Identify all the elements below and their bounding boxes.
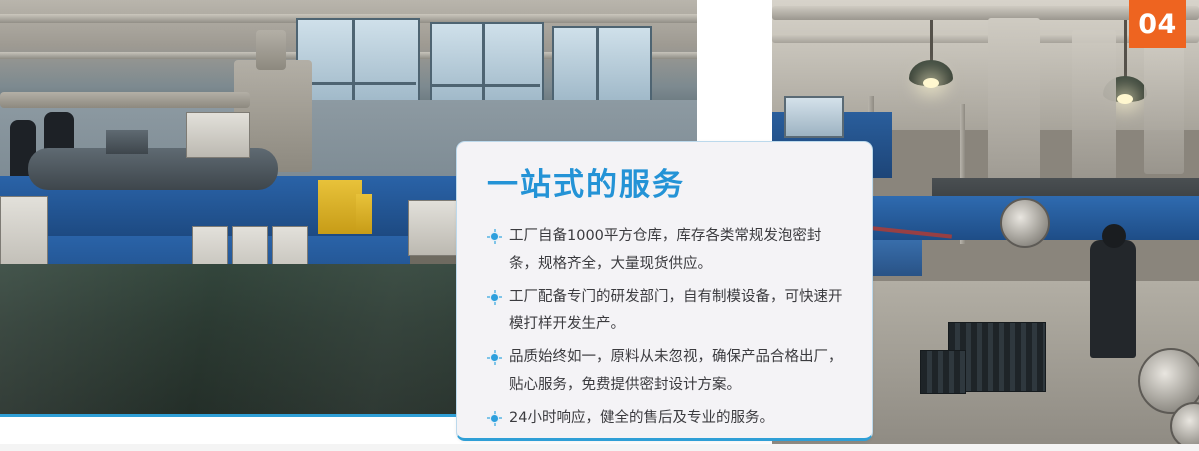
list-item: 品质始终如一，原料从未忽视，确保产品合格出厂，贴心服务，免费提供密封设计方案。 <box>487 344 846 400</box>
control-panel <box>186 112 250 158</box>
overhead-pipe <box>0 92 250 108</box>
target-dot-icon <box>487 290 502 305</box>
section-number-badge: 04 <box>1129 0 1186 48</box>
lamp-cord <box>1124 20 1127 80</box>
card-title: 一站式的服务 <box>487 170 846 201</box>
hopper <box>106 130 148 154</box>
worker <box>1090 240 1136 358</box>
exhaust-duct <box>1144 42 1184 174</box>
exhaust-duct <box>256 30 286 70</box>
section-number-text: 04 <box>1138 11 1177 38</box>
material-reel <box>1000 198 1050 248</box>
bottom-strip <box>0 444 1199 451</box>
exhaust-duct <box>1072 30 1116 180</box>
window <box>784 96 844 138</box>
list-item: 工厂自备1000平方仓库，库存各类常规发泡密封条，规格齐全，大量现货供应。 <box>487 223 846 279</box>
banner-stage: 04 一站式的服务 工厂自备1000平方仓库，库存各类常规发泡密封条，规格齐全，… <box>0 0 1199 451</box>
lamp-cord <box>930 20 933 64</box>
window-transom <box>430 84 540 87</box>
list-item: 24小时响应，健全的售后及专业的服务。 <box>487 405 846 433</box>
target-dot-icon <box>487 411 502 426</box>
service-info-card: 一站式的服务 工厂自备1000平方仓库，库存各类常规发泡密封条，规格齐全，大量现… <box>456 141 873 441</box>
storage-crate <box>920 350 966 394</box>
window-transom <box>296 82 416 85</box>
target-dot-icon <box>487 229 502 244</box>
yellow-guard <box>356 194 372 234</box>
list-item: 工厂配备专门的研发部门，自有制模设备，可快速开模打样开发生产。 <box>487 284 846 340</box>
target-dot-icon <box>487 350 502 365</box>
list-item-text: 24小时响应，健全的售后及专业的服务。 <box>509 405 774 433</box>
list-item-text: 工厂配备专门的研发部门，自有制模设备，可快速开模打样开发生产。 <box>509 284 846 340</box>
worker-head <box>1102 224 1126 248</box>
service-bullet-list: 工厂自备1000平方仓库，库存各类常规发泡密封条，规格齐全，大量现货供应。 工厂… <box>487 223 846 433</box>
list-item-text: 品质始终如一，原料从未忽视，确保产品合格出厂，贴心服务，免费提供密封设计方案。 <box>509 344 846 400</box>
exhaust-duct <box>988 18 1040 194</box>
list-item-text: 工厂自备1000平方仓库，库存各类常规发泡密封条，规格齐全，大量现货供应。 <box>509 223 846 279</box>
